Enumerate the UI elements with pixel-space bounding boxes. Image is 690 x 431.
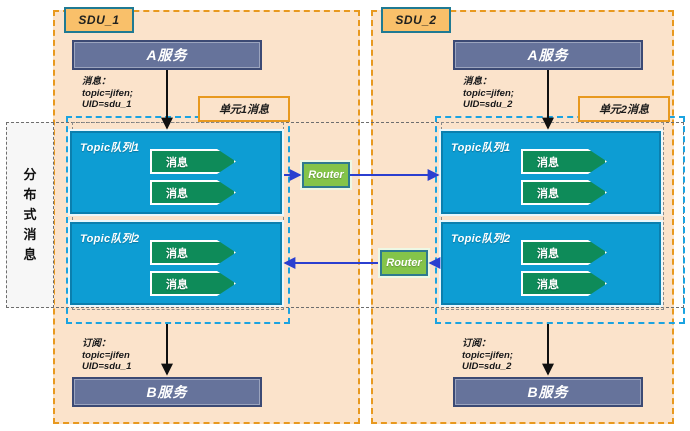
sdu1-subscribe-annotation: 订阅： topic=jifen UID=sdu_1 xyxy=(82,338,192,373)
sdu1-topic-queue-2[interactable]: Topic队列2 消息 消息 xyxy=(70,222,282,305)
sdu2-q2-message-0-label: 消息 xyxy=(523,245,559,261)
diagram-canvas: 分 布 式 消 息 SDU_1 SDU_2 A服务 A服务 消息： topic=… xyxy=(0,0,690,431)
panel-char-1: 布 xyxy=(23,185,36,205)
panel-char-3: 消 xyxy=(23,225,36,245)
sdu2-topic-queue-2-title: Topic队列2 xyxy=(451,230,510,246)
sdu2-label: SDU_2 xyxy=(381,7,451,33)
sdu1-q1-message-1-label: 消息 xyxy=(152,185,188,201)
sdu1-topic-queue-2-title: Topic队列2 xyxy=(80,230,139,246)
router-bottom[interactable]: Router xyxy=(380,250,428,276)
unit1-message-label: 单元1消息 xyxy=(198,96,290,122)
sdu2-subscribe-annotation: 订阅： topic=jifen; UID=sdu_2 xyxy=(462,338,572,373)
sdu1-q1-message-0[interactable]: 消息 xyxy=(150,149,236,174)
sdu2-q2-message-1-label: 消息 xyxy=(523,276,559,292)
sdu2-publish-annotation: 消息： topic=jifen; UID=sdu_2 xyxy=(463,76,573,111)
sdu1-producer-service[interactable]: A服务 xyxy=(72,40,262,70)
sdu1-q1-message-0-label: 消息 xyxy=(152,154,188,170)
sdu2-topic-queue-2[interactable]: Topic队列2 消息 消息 xyxy=(441,222,661,305)
panel-char-0: 分 xyxy=(23,165,36,185)
sdu2-q1-message-1-label: 消息 xyxy=(523,185,559,201)
sdu1-label: SDU_1 xyxy=(64,7,134,33)
sdu2-consumer-service[interactable]: B服务 xyxy=(453,377,643,407)
sdu2-q1-message-0[interactable]: 消息 xyxy=(521,149,607,174)
panel-char-4: 息 xyxy=(23,245,36,265)
sdu1-q1-message-1[interactable]: 消息 xyxy=(150,180,236,205)
sdu2-q2-message-1[interactable]: 消息 xyxy=(521,271,607,296)
distributed-message-panel: 分 布 式 消 息 xyxy=(6,122,54,308)
panel-char-2: 式 xyxy=(23,205,36,225)
sdu1-q2-message-1-label: 消息 xyxy=(152,276,188,292)
router-top[interactable]: Router xyxy=(302,162,350,188)
sdu2-topic-queue-1[interactable]: Topic队列1 消息 消息 xyxy=(441,131,661,214)
sdu1-q2-message-0-label: 消息 xyxy=(152,245,188,261)
sdu1-topic-queue-1[interactable]: Topic队列1 消息 消息 xyxy=(70,131,282,214)
sdu2-producer-service[interactable]: A服务 xyxy=(453,40,643,70)
sdu2-q1-message-0-label: 消息 xyxy=(523,154,559,170)
sdu2-q1-message-1[interactable]: 消息 xyxy=(521,180,607,205)
sdu1-q2-message-1[interactable]: 消息 xyxy=(150,271,236,296)
unit2-message-label: 单元2消息 xyxy=(578,96,670,122)
sdu1-q2-message-0[interactable]: 消息 xyxy=(150,240,236,265)
sdu2-q2-message-0[interactable]: 消息 xyxy=(521,240,607,265)
sdu1-topic-queue-1-title: Topic队列1 xyxy=(80,139,139,155)
sdu2-topic-queue-1-title: Topic队列1 xyxy=(451,139,510,155)
sdu1-consumer-service[interactable]: B服务 xyxy=(72,377,262,407)
sdu1-publish-annotation: 消息： topic=jifen; UID=sdu_1 xyxy=(82,76,192,111)
